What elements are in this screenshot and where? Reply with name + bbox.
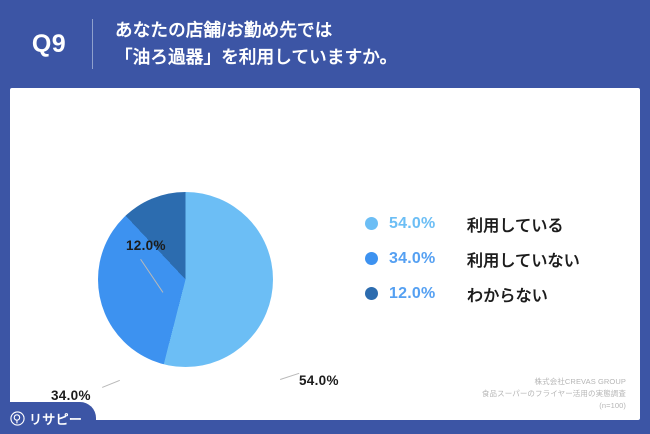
question-title: あなたの店舗/お勤め先では 「油ろ過器」を利用していますか。	[115, 17, 397, 70]
question-title-line2: 「油ろ過器」を利用していますか。	[115, 44, 397, 71]
pie-label-slice2: 34.0%	[51, 388, 91, 403]
source-sample-size: (n=100)	[482, 400, 626, 412]
pie-chart: 54.0% 34.0% 12.0%	[10, 88, 360, 420]
question-number: Q9	[0, 30, 92, 59]
legend-dot-icon	[365, 287, 378, 300]
source-company: 株式会社CREVAS GROUP	[482, 376, 626, 388]
header-divider	[92, 19, 93, 69]
chart-legend: 54.0% 利用している 34.0% 利用していない 12.0% わからない	[365, 206, 640, 311]
leader-line-slice1	[280, 373, 299, 380]
pie-label-slice1: 54.0%	[299, 373, 339, 388]
legend-item: 54.0% 利用している	[365, 206, 640, 241]
magnifier-icon	[10, 411, 25, 426]
pie-label-slice3: 12.0%	[126, 238, 166, 253]
legend-label: わからない	[467, 282, 548, 306]
pie-graphic	[98, 192, 273, 367]
content-card: 54.0% 34.0% 12.0% 54.0% 利用している 34.0% 利用し…	[10, 88, 640, 420]
source-note: 株式会社CREVAS GROUP 食品スーパーのフライヤー活用の実態調査 (n=…	[482, 376, 626, 412]
legend-item: 12.0% わからない	[365, 276, 640, 311]
legend-label: 利用していない	[467, 247, 580, 271]
source-survey: 食品スーパーのフライヤー活用の実態調査	[482, 388, 626, 400]
legend-dot-icon	[365, 252, 378, 265]
slide-root: Q9 あなたの店舗/お勤め先では 「油ろ過器」を利用していますか。 54.0% …	[0, 0, 650, 434]
legend-item: 34.0% 利用していない	[365, 241, 640, 276]
legend-label: 利用している	[467, 212, 564, 236]
legend-percent: 34.0%	[389, 250, 467, 268]
question-title-line1: あなたの店舗/お勤め先では	[115, 17, 397, 44]
legend-percent: 54.0%	[389, 215, 467, 233]
legend-percent: 12.0%	[389, 285, 467, 303]
brand-logo: リサピー	[0, 402, 96, 434]
leader-line-slice2	[102, 380, 120, 388]
brand-name: リサピー	[29, 409, 82, 428]
header-banner: Q9 あなたの店舗/お勤め先では 「油ろ過器」を利用していますか。	[0, 0, 650, 88]
legend-dot-icon	[365, 217, 378, 230]
